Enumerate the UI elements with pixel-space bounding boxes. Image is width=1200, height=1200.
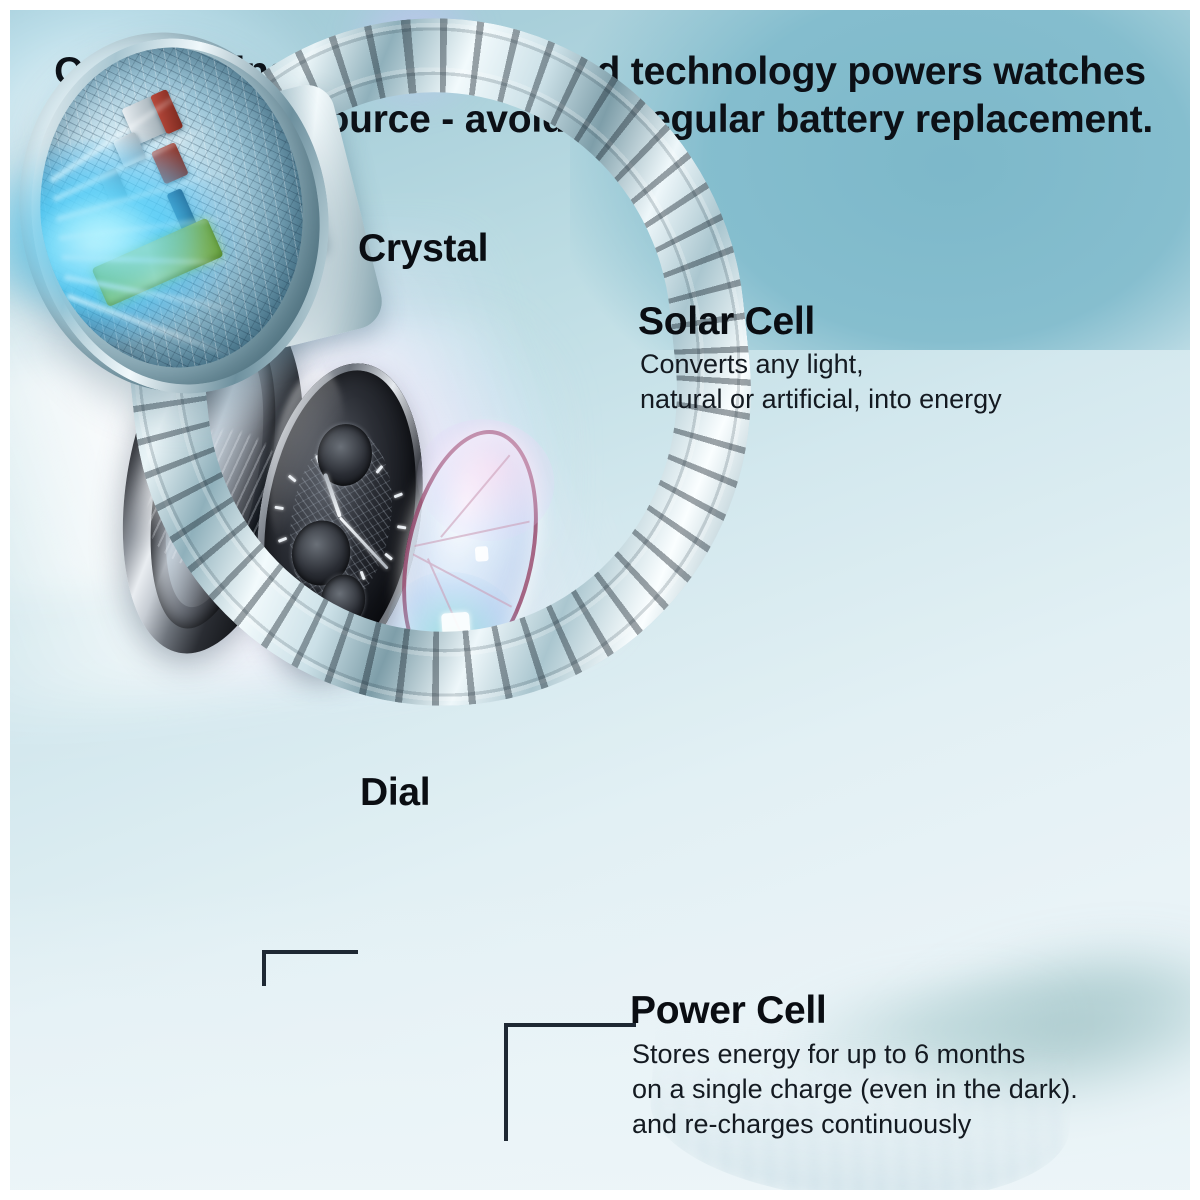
poster-canvas: Our sustainable, light-powered technolog…	[10, 10, 1190, 1190]
power-body-line-2: on a single charge (even in the dark).	[632, 1072, 1078, 1107]
callout-title-crystal: Crystal	[358, 229, 488, 268]
callout-body-power-cell: Stores energy for up to 6 months on a si…	[632, 1037, 1078, 1142]
callout-title-dial: Dial	[360, 773, 430, 812]
watch-assembly	[10, 10, 610, 710]
case-light-glow	[10, 140, 200, 330]
power-body-line-1: Stores energy for up to 6 months	[632, 1037, 1078, 1072]
callout-body-solar-cell: Converts any light, natural or artificia…	[640, 347, 1002, 417]
solar-body-line-1: Converts any light,	[640, 347, 1002, 382]
solar-body-line-2: natural or artificial, into energy	[640, 382, 1002, 417]
callout-title-power-cell: Power Cell	[630, 991, 826, 1030]
callout-title-solar-cell: Solar Cell	[638, 302, 815, 341]
power-body-line-3: and re-charges continuously	[632, 1107, 1078, 1142]
